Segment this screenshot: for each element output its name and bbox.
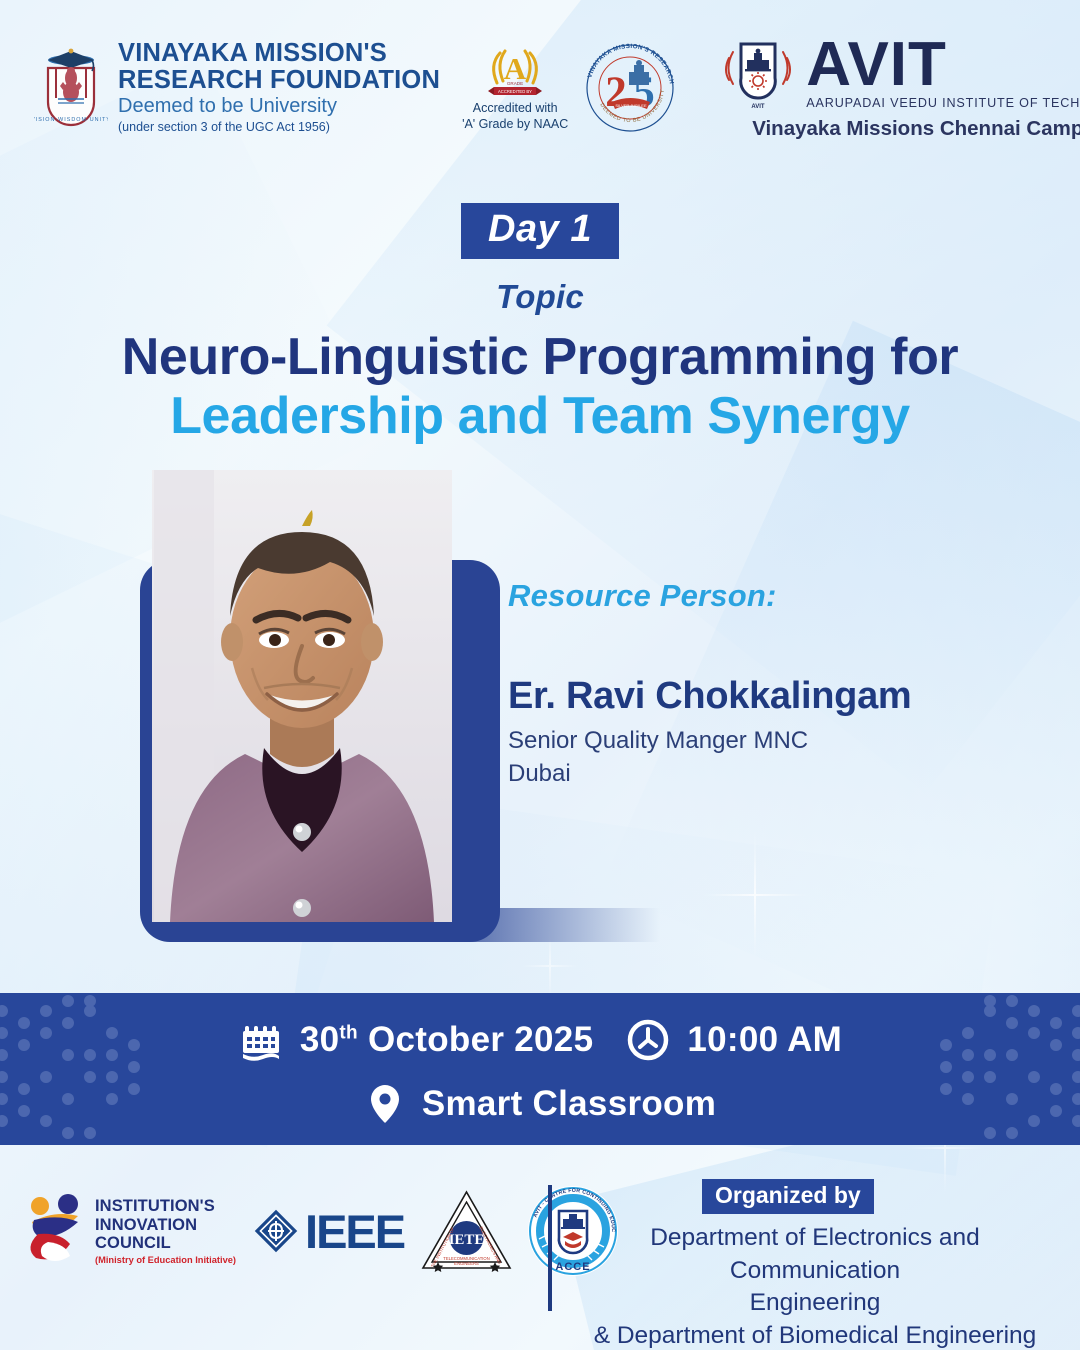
iic-wordmark: INSTITUTION'S INNOVATION COUNCIL (Minist… (95, 1197, 236, 1265)
anniversary-25-years-icon: VINAYAKA MISSION'S RESEARCH FOUNDATION D… (582, 40, 678, 136)
sparkle-icon (700, 830, 810, 960)
event-venue-text: Smart Classroom (422, 1084, 716, 1124)
organizer-line: & Department of Biomedical Engineering (574, 1320, 1056, 1350)
iic-logo: INSTITUTION'S INNOVATION COUNCIL (Minist… (24, 1192, 236, 1270)
organizer-line: Engineering (574, 1287, 1056, 1320)
vmrf-line1: VINAYAKA MISSION'S (118, 40, 440, 67)
university-crest-icon: VISION·WISDOM·UNITY (34, 42, 108, 134)
svg-text:SILVER JUBILEE: SILVER JUBILEE (616, 103, 648, 108)
resource-person-label: Resource Person: (508, 578, 1028, 614)
vmrf-logo: VISION·WISDOM·UNITY VINAYAKA MISSION'S R… (34, 40, 440, 135)
ieee-logo: IEEE (252, 1207, 404, 1255)
vmrf-line4: (under section 3 of the UGC Act 1956) (118, 119, 440, 135)
svg-text:IETE: IETE (449, 1232, 485, 1248)
naac-caption-line2: 'A' Grade by NAAC (462, 117, 568, 133)
svg-text:ENGINEERS: ENGINEERS (454, 1261, 479, 1266)
iete-triangle-icon: IETE THE INSTITUTION OF ELECTRONICS AND … (420, 1188, 513, 1274)
organizer-line: Department of Electronics and Communicat… (574, 1222, 1056, 1287)
topic-title-line2: Leadership and Team Synergy (0, 386, 1080, 447)
event-row-venue: Smart Classroom (0, 1081, 1080, 1127)
avit-campus-name: Vinayaka Missions Chennai Campus (752, 117, 1080, 141)
footer: INSTITUTION'S INNOVATION COUNCIL (Minist… (0, 1145, 1080, 1350)
ieee-diamond-icon (252, 1207, 300, 1255)
resource-person-block: Resource Person: Er. Ravi Chokkalingam S… (508, 578, 1028, 790)
calendar-icon (238, 1017, 284, 1063)
avit-shield-icon: AVIT (720, 34, 796, 112)
svg-text:2: 2 (606, 69, 628, 116)
title-block: Day 1 Topic Neuro-Linguistic Programming… (0, 203, 1080, 448)
speaker-city: Dubai (508, 757, 1028, 790)
footer-logo-strip: INSTITUTION'S INNOVATION COUNCIL (Minist… (24, 1183, 621, 1279)
avit-acronym: AVIT (806, 36, 1080, 93)
organizer-list: Department of Electronics and Communicat… (574, 1222, 1056, 1350)
svg-text:AVIT: AVIT (752, 104, 766, 110)
iic-figure-icon (24, 1192, 88, 1270)
event-time-text: 10:00 AM (687, 1020, 842, 1060)
svg-text:VISION·WISDOM·UNITY: VISION·WISDOM·UNITY (34, 117, 108, 123)
speaker-name: Er. Ravi Chokkalingam (508, 675, 1028, 718)
iic-line2: INNOVATION (95, 1216, 236, 1234)
speaker-role: Senior Quality Manger MNC (508, 724, 1028, 757)
iic-subtitle: (Ministry of Education Initiative) (95, 1255, 236, 1265)
header-logo-strip: VISION·WISDOM·UNITY VINAYAKA MISSION'S R… (0, 0, 1080, 175)
avit-expansion: AARUPADAI VEEDU INSTITUTE OF TECHNOLOGY (806, 96, 1080, 110)
iic-line1: INSTITUTION'S (95, 1197, 236, 1215)
clock-icon (625, 1017, 671, 1063)
event-poster: VISION·WISDOM·UNITY VINAYAKA MISSION'S R… (0, 0, 1080, 1350)
naac-caption-line1: Accredited with (462, 101, 568, 117)
vmrf-wordmark: VINAYAKA MISSION'S RESEARCH FOUNDATION D… (118, 40, 440, 135)
svg-text:ACCREDITED BY: ACCREDITED BY (498, 89, 532, 94)
vmrf-line3: Deemed to be University (118, 94, 440, 119)
topic-title-line1: Neuro-Linguistic Programming for (0, 328, 1080, 386)
day-badge: Day 1 (461, 203, 619, 259)
avit-logo: AVIT AVIT AARUPADAI VEEDU INSTITUTE OF T… (720, 34, 1080, 141)
topic-label: Topic (0, 278, 1080, 316)
naac-laurel-badge-icon: A GRADE ACCREDITED BY (484, 43, 546, 101)
organized-by-badge: Organized by (702, 1179, 874, 1214)
speaker-photo (152, 470, 452, 922)
svg-text:VINAYAKA MISSION'S RESEARCH FO: VINAYAKA MISSION'S RESEARCH FOUNDATION (582, 40, 675, 87)
organized-by-block: Organized by Department of Electronics a… (548, 1179, 1056, 1350)
location-pin-icon (364, 1081, 406, 1127)
ieee-wordmark: IEEE (305, 1208, 404, 1255)
event-time: 10:00 AM (625, 1017, 842, 1063)
svg-text:GRADE: GRADE (507, 81, 523, 86)
iic-line3: COUNCIL (95, 1234, 236, 1252)
event-date-text: 30th October 2025 (300, 1020, 593, 1060)
event-row-date-time: 30th October 2025 10:00 AM (0, 1017, 1080, 1063)
event-date: 30th October 2025 (238, 1017, 593, 1063)
event-details-bar: 30th October 2025 10:00 AM Smart Classro… (0, 993, 1080, 1145)
naac-accreditation-logo: A GRADE ACCREDITED BY Accredited with 'A… (462, 43, 568, 132)
vmrf-line2: RESEARCH FOUNDATION (118, 67, 440, 94)
